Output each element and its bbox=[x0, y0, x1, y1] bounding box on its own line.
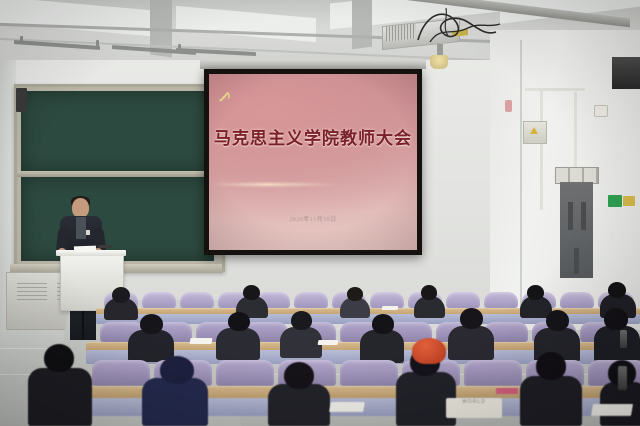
attendee-head bbox=[284, 362, 314, 389]
conduit-vertical-2 bbox=[574, 92, 577, 170]
white-tote-bag[interactable]: WORLD bbox=[446, 398, 502, 418]
attendee-head bbox=[243, 285, 260, 300]
conduit-vertical bbox=[540, 90, 543, 210]
presenter-badge bbox=[86, 230, 90, 235]
chalkboard-panel-lower bbox=[21, 177, 214, 261]
attendee-head bbox=[604, 308, 628, 330]
attendee-body bbox=[448, 326, 494, 360]
pink-notebook bbox=[496, 388, 518, 394]
attendee-body bbox=[520, 376, 582, 426]
screen-housing bbox=[200, 60, 426, 69]
attendee-body bbox=[28, 368, 92, 426]
attendee-head bbox=[140, 314, 163, 334]
notice-sign bbox=[623, 196, 635, 206]
fire-alarm-icon bbox=[505, 100, 512, 112]
attendee-head bbox=[228, 312, 250, 331]
wall-speaker bbox=[16, 88, 27, 112]
red-hat bbox=[412, 338, 446, 364]
seat bbox=[484, 292, 518, 308]
attendee-body bbox=[360, 330, 404, 363]
seat bbox=[294, 292, 328, 308]
microphone bbox=[98, 245, 112, 248]
presentation-slide: 马克思主义学院教师大会 2020年11月10日 bbox=[209, 74, 417, 250]
emergency-light bbox=[594, 105, 608, 117]
seat bbox=[446, 292, 480, 308]
seat bbox=[92, 360, 150, 386]
attendee-head bbox=[112, 287, 130, 303]
attendee-head bbox=[44, 344, 74, 372]
water-bottle bbox=[618, 366, 627, 390]
seat bbox=[216, 360, 274, 386]
attendee-head bbox=[460, 308, 483, 329]
seat bbox=[464, 360, 522, 386]
attendee-body bbox=[268, 384, 330, 426]
chalkboard bbox=[14, 84, 225, 272]
lecture-hall-photo: 马克思主义学院教师大会 2020年11月10日 bbox=[0, 0, 640, 426]
attendee-head bbox=[536, 352, 566, 380]
podium-papers bbox=[74, 246, 96, 253]
presenter-head bbox=[72, 198, 89, 218]
attendee-head bbox=[160, 356, 194, 384]
attendee-head bbox=[608, 282, 626, 298]
attendee-body bbox=[142, 378, 208, 426]
seat bbox=[560, 292, 594, 308]
water-bottle bbox=[620, 330, 627, 348]
projector-cables bbox=[412, 6, 502, 50]
attendee-head bbox=[546, 310, 569, 331]
projector-lens bbox=[430, 55, 448, 69]
hazard-warning-icon bbox=[530, 127, 538, 134]
conduit-horizontal bbox=[525, 88, 585, 91]
attendee-body bbox=[216, 328, 260, 360]
seat bbox=[180, 292, 214, 308]
presenter-shirt bbox=[76, 217, 86, 239]
paper-sheet bbox=[382, 306, 399, 310]
projection-screen: 马克思主义学院教师大会 2020年11月10日 bbox=[204, 69, 422, 255]
air-conditioner-unit bbox=[612, 57, 640, 89]
electrical-panel bbox=[560, 182, 593, 278]
exit-sign-icon bbox=[608, 195, 622, 207]
attendee-body bbox=[594, 326, 640, 362]
seat bbox=[340, 360, 398, 386]
chalkboard-panel-upper bbox=[21, 91, 214, 171]
paper-sheet bbox=[591, 404, 633, 416]
attendee-head bbox=[291, 311, 312, 330]
seat bbox=[142, 292, 176, 308]
paper-sheet bbox=[329, 402, 365, 412]
attendee-head bbox=[421, 285, 437, 300]
wall-corner bbox=[520, 40, 522, 340]
attendee-head bbox=[372, 314, 394, 334]
paper-sheet bbox=[189, 338, 212, 344]
attendee-body bbox=[280, 327, 322, 358]
attendee-head bbox=[527, 285, 544, 300]
paper-sheet bbox=[318, 340, 339, 345]
attendee-head bbox=[347, 287, 363, 301]
slide-vignette bbox=[209, 74, 417, 250]
